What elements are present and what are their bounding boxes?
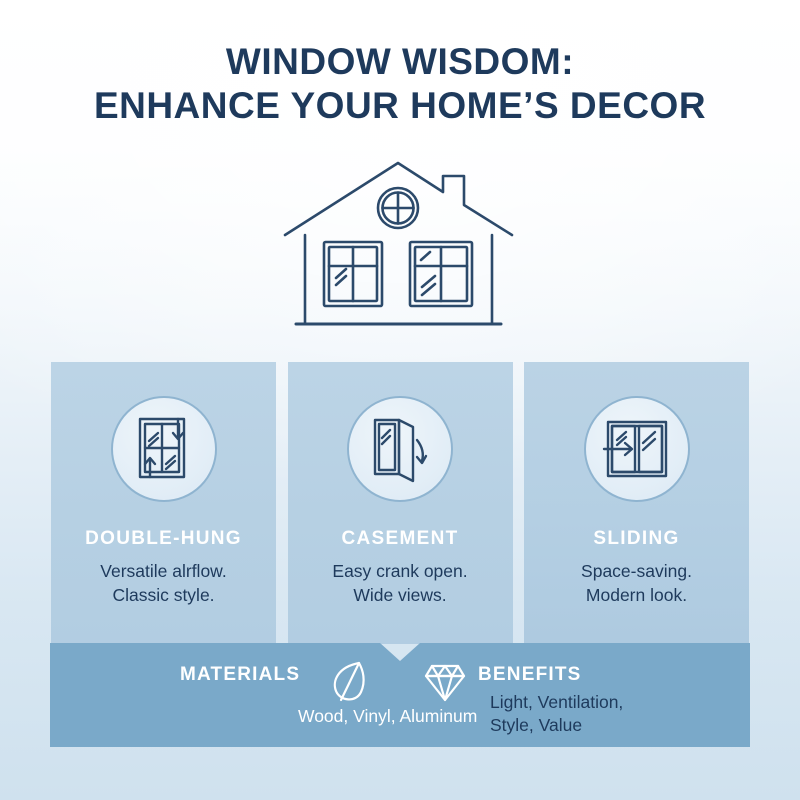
column-label-casement: CASEMENT [341, 528, 458, 550]
page-title-line-2: ENHANCE YOUR HOME’S DECOR [0, 84, 800, 128]
column-desc-line-2: Modern look. [581, 584, 692, 608]
column-label-sliding: SLIDING [593, 528, 679, 550]
column-desc-line-1: Space-saving. [581, 560, 692, 584]
sliding-window-icon [601, 417, 673, 481]
diamond-icon [422, 661, 468, 703]
icon-circle-sliding [584, 396, 690, 502]
column-label-double-hung: DOUBLE-HUNG [85, 528, 242, 550]
column-desc-line-1: Easy crank open. [332, 560, 467, 584]
summary-bar-content: MATERIALS Wood, Vinyl, Aluminum [50, 643, 750, 747]
materials-label: MATERIALS [180, 664, 300, 686]
casement-window-icon [369, 414, 431, 484]
column-double-hung[interactable]: DOUBLE-HUNG Versatile alrflow. Classic s… [51, 362, 276, 644]
column-sliding[interactable]: SLIDING Space-saving. Modern look. [524, 362, 749, 644]
materials-value: Wood, Vinyl, Aluminum [298, 706, 477, 727]
header: WINDOW WISDOM: ENHANCE YOUR HOME’S DECOR [0, 40, 800, 127]
house-illustration [280, 150, 530, 340]
column-desc-double-hung: Versatile alrflow. Classic style. [100, 560, 226, 607]
window-type-columns: DOUBLE-HUNG Versatile alrflow. Classic s… [51, 362, 749, 644]
column-casement[interactable]: CASEMENT Easy crank open. Wide views. [288, 362, 513, 644]
column-desc-line-2: Wide views. [332, 584, 467, 608]
infographic-canvas: WINDOW WISDOM: ENHANCE YOUR HOME’S DECOR [0, 0, 800, 800]
column-desc-line-1: Versatile alrflow. [100, 560, 226, 584]
leaf-icon-wrapper [328, 659, 372, 705]
summary-bar: MATERIALS Wood, Vinyl, Aluminum [50, 643, 750, 747]
diamond-icon-wrapper [422, 661, 468, 703]
column-desc-casement: Easy crank open. Wide views. [332, 560, 467, 607]
leaf-icon [328, 659, 372, 705]
page-title-line-1: WINDOW WISDOM: [0, 40, 800, 84]
benefits-value: Light, Ventilation, Style, Value [490, 691, 623, 737]
benefits-label: BENEFITS [478, 664, 582, 686]
benefits-value-line-2: Style, Value [490, 714, 623, 737]
benefits-value-line-1: Light, Ventilation, [490, 691, 623, 714]
icon-circle-casement [347, 396, 453, 502]
double-hung-window-icon [133, 414, 195, 484]
icon-circle-double-hung [111, 396, 217, 502]
column-desc-sliding: Space-saving. Modern look. [581, 560, 692, 607]
house-icon [280, 150, 530, 340]
column-desc-line-2: Classic style. [100, 584, 226, 608]
